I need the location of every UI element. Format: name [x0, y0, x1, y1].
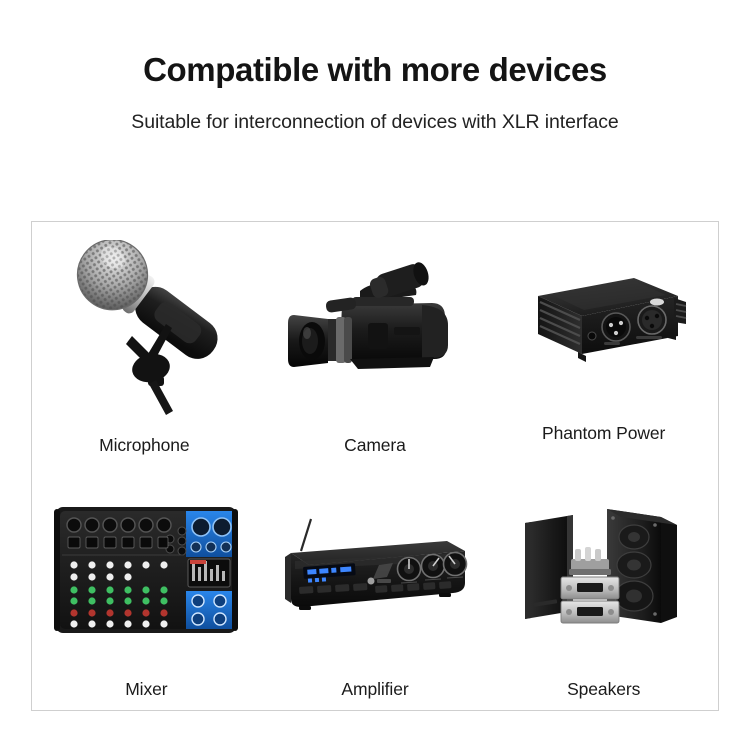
microphone-icon [32, 222, 261, 433]
device-label: Phantom Power [542, 423, 665, 444]
phantom-power-icon [489, 222, 718, 421]
device-grid: Microphone [32, 222, 718, 710]
amplifier-icon [261, 466, 490, 677]
header: Compatible with more devices Suitable fo… [0, 0, 750, 134]
page-subtitle: Suitable for interconnection of devices … [0, 111, 750, 134]
camcorder-icon [261, 222, 490, 433]
device-cell-microphone: Microphone [32, 222, 261, 466]
device-label: Speakers [567, 679, 640, 700]
device-cell-phantom-power: Phantom Power [489, 222, 718, 466]
device-label: Camera [344, 435, 406, 456]
speakers-icon [489, 466, 718, 677]
device-cell-camera: Camera [261, 222, 490, 466]
page-title: Compatible with more devices [0, 52, 750, 88]
audio-mixer-icon [32, 466, 261, 677]
device-label: Mixer [125, 679, 167, 700]
promo-page: Compatible with more devices Suitable fo… [0, 0, 750, 750]
device-cell-amplifier: Amplifier [261, 466, 490, 710]
device-label: Amplifier [341, 679, 408, 700]
device-label: Microphone [99, 435, 189, 456]
device-grid-container: Microphone [31, 221, 719, 711]
device-cell-mixer: Mixer [32, 466, 261, 710]
device-cell-speakers: Speakers [489, 466, 718, 710]
